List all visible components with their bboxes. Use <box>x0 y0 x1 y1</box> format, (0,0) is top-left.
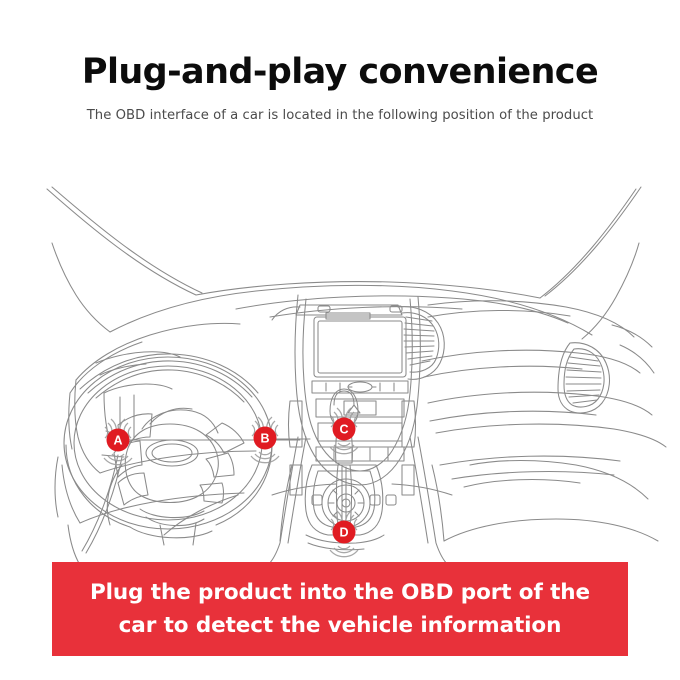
car-dashboard-svg: A B C <box>0 165 680 565</box>
bottom-callout-banner: Plug the product into the OBD port of th… <box>52 562 628 656</box>
header: Plug-and-play convenience The OBD interf… <box>0 50 680 126</box>
right-dash <box>422 301 666 479</box>
marker-b[interactable]: B <box>251 417 279 463</box>
page-root: Plug-and-play convenience The OBD interf… <box>0 0 680 680</box>
banner-line-1: Plug the product into the OBD port of th… <box>70 576 610 609</box>
page-title: Plug-and-play convenience <box>0 50 680 94</box>
center-air-vents <box>272 307 444 380</box>
banner-line-2: car to detect the vehicle information <box>70 609 610 642</box>
marker-b-label: B <box>260 431 269 445</box>
marker-a-label: A <box>113 433 122 447</box>
dashboard-linework <box>47 187 666 565</box>
page-subtitle: The OBD interface of a car is located in… <box>0 94 680 126</box>
marker-c-label: C <box>339 422 348 436</box>
marker-d-label: D <box>339 525 348 539</box>
banner-text: Plug the product into the OBD port of th… <box>70 576 610 642</box>
center-console <box>289 295 421 527</box>
left-dash-hood <box>69 323 240 473</box>
car-interior-illustration: A B C <box>0 165 680 565</box>
